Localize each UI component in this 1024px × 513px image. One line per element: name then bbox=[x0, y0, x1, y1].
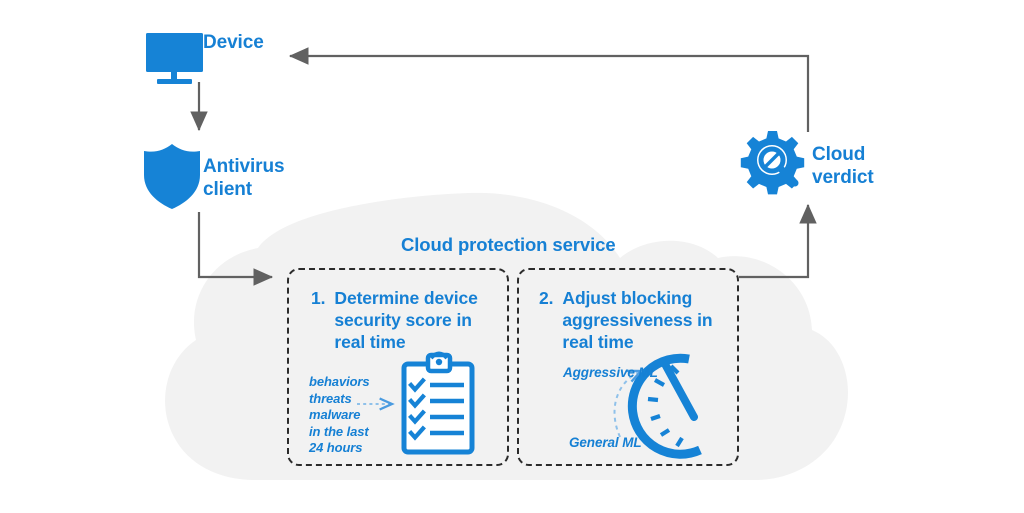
step-box-1: 1. Determine device security score in re… bbox=[287, 268, 509, 466]
step-box-2: 2. Adjust blocking aggressiveness in rea… bbox=[517, 268, 739, 466]
cloud-verdict-label-line1: Cloud bbox=[812, 143, 922, 166]
detail-line-5: 24 hours bbox=[309, 440, 370, 457]
connector-verdict-to-device bbox=[290, 56, 808, 132]
detail-line-1: behaviors bbox=[309, 374, 370, 391]
step-2-number: 2. bbox=[539, 287, 553, 353]
step-1-heading: 1. Determine device security score in re… bbox=[311, 287, 494, 353]
detail-line-2: threats bbox=[309, 391, 370, 408]
detail-line-4: in the last bbox=[309, 424, 370, 441]
step-1-text: Determine device security score in real … bbox=[334, 287, 494, 353]
device-label: Device bbox=[203, 31, 264, 54]
gauge-low-label: General ML bbox=[569, 435, 642, 450]
diagram-canvas: Device Antivirus client Cloud verdict Cl… bbox=[0, 0, 1024, 513]
cloud-protection-service-title: Cloud protection service bbox=[401, 234, 616, 256]
gauge-high-label: Aggressive ML bbox=[563, 365, 658, 380]
diagram-graphics-layer bbox=[0, 0, 1024, 513]
antivirus-client-label: Antivirus client bbox=[203, 155, 313, 201]
detail-line-3: malware bbox=[309, 407, 370, 424]
step-2-heading: 2. Adjust blocking aggressiveness in rea… bbox=[539, 287, 722, 353]
gear-magnifier-icon bbox=[741, 131, 804, 194]
antivirus-client-label-line1: Antivirus bbox=[203, 155, 313, 178]
step-2-text: Adjust blocking aggressiveness in real t… bbox=[562, 287, 722, 353]
cloud-verdict-label: Cloud verdict bbox=[812, 143, 922, 189]
step-1-detail-list: behaviors threats malware in the last 24… bbox=[309, 374, 370, 457]
cloud-verdict-label-line2: verdict bbox=[812, 166, 922, 189]
step-1-number: 1. bbox=[311, 287, 325, 353]
shield-icon bbox=[144, 144, 200, 209]
antivirus-client-label-line2: client bbox=[203, 178, 313, 201]
monitor-icon bbox=[146, 33, 203, 84]
